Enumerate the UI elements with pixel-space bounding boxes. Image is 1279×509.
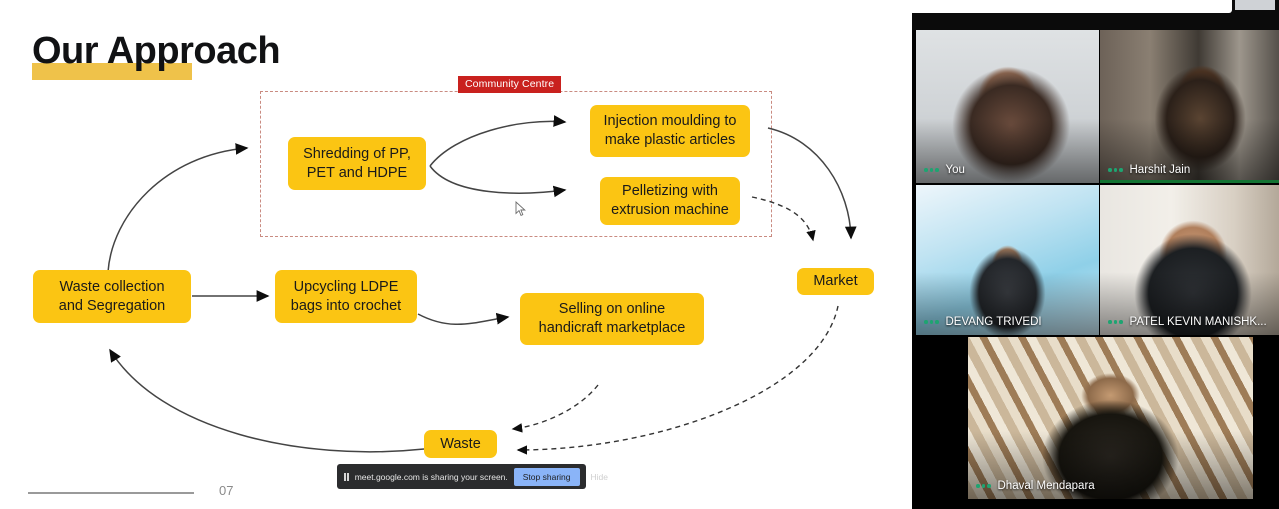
mic-activity-icon [924, 320, 939, 324]
node-pelletizing-text: Pelletizing with extrusion machine [611, 182, 729, 219]
participant-name-row: Dhaval Mendapara [968, 478, 1103, 494]
meet-participants-panel: You Harshit Jain DEVANG TRIVEDI [912, 0, 1279, 509]
mouse-cursor-icon [515, 201, 527, 217]
participant-name: DEVANG TRIVEDI [946, 316, 1042, 328]
tile-gradient [916, 30, 1099, 183]
node-injection-moulding[interactable]: Injection moulding to make plastic artic… [590, 105, 750, 157]
node-upcycling-text: Upcycling LDPE bags into crochet [291, 278, 401, 315]
node-selling[interactable]: Selling on online handicraft marketplace [520, 293, 704, 345]
participant-name-row: You [916, 162, 973, 178]
window-controls-strip [1235, 0, 1275, 10]
participant-tile-you[interactable]: You [916, 30, 1099, 183]
participant-name-row: PATEL KEVIN MANISHK... [1100, 314, 1275, 330]
line-1: Shredding of PP, [303, 146, 411, 162]
tile-gradient [916, 185, 1099, 335]
node-waste-text: Waste [440, 435, 481, 454]
line-2: make plastic articles [605, 132, 736, 148]
participant-name-row: DEVANG TRIVEDI [916, 314, 1050, 330]
line-2: and Segregation [59, 298, 165, 314]
node-shredding[interactable]: Shredding of PP, PET and HDPE [288, 137, 426, 190]
tile-gradient [968, 337, 1253, 499]
mic-activity-icon [1108, 320, 1123, 324]
participant-name: Harshit Jain [1130, 164, 1191, 176]
screen-share-bar: meet.google.com is sharing your screen. … [337, 464, 586, 489]
line-2: extrusion machine [611, 202, 729, 218]
page-title: Our Approach [32, 30, 280, 73]
line-2: bags into crochet [291, 298, 401, 314]
node-waste-collection[interactable]: Waste collection and Segregation [33, 270, 191, 323]
tile-gradient [1100, 185, 1279, 335]
browser-omnibox-strip [902, 0, 1232, 13]
line-2: PET and HDPE [307, 165, 407, 181]
line-1: Upcycling LDPE [294, 279, 399, 295]
tile-gradient [1100, 30, 1279, 183]
node-market-text: Market [813, 272, 857, 291]
line-2: handicraft marketplace [539, 320, 686, 336]
participant-tile-patel-kevin[interactable]: PATEL KEVIN MANISHK... [1100, 185, 1279, 335]
participant-tile-dhaval-mendapara[interactable]: Dhaval Mendapara [968, 337, 1253, 499]
node-pelletizing[interactable]: Pelletizing with extrusion machine [600, 177, 740, 225]
node-waste-collection-text: Waste collection and Segregation [59, 278, 165, 315]
line-1: Waste collection [59, 279, 164, 295]
screen-root: Our Approach Community Centre [0, 0, 1279, 509]
line-1: Pelletizing with [622, 183, 718, 199]
participant-name: PATEL KEVIN MANISHK... [1130, 316, 1267, 328]
mic-activity-icon [1108, 168, 1123, 172]
node-injection-moulding-text: Injection moulding to make plastic artic… [604, 112, 737, 149]
speaking-indicator [1100, 180, 1279, 183]
mic-activity-icon [976, 484, 991, 488]
node-shredding-text: Shredding of PP, PET and HDPE [303, 145, 411, 182]
node-upcycling[interactable]: Upcycling LDPE bags into crochet [275, 270, 417, 323]
community-centre-label: Community Centre [458, 76, 561, 93]
mic-activity-icon [924, 168, 939, 172]
presentation-slide: Our Approach Community Centre [0, 0, 912, 509]
stop-sharing-button[interactable]: Stop sharing [514, 468, 580, 486]
hide-button[interactable]: Hide [586, 472, 613, 482]
line-1: Selling on online [559, 301, 665, 317]
page-number: 07 [219, 483, 233, 498]
line-1: Injection moulding to [604, 113, 737, 129]
participant-tile-harshit-jain[interactable]: Harshit Jain [1100, 30, 1279, 183]
pause-icon [344, 473, 349, 481]
node-selling-text: Selling on online handicraft marketplace [539, 300, 686, 337]
participant-name-row: Harshit Jain [1100, 162, 1198, 178]
node-market[interactable]: Market [797, 268, 874, 295]
share-status-text: meet.google.com is sharing your screen. [355, 472, 508, 482]
footer-divider [28, 492, 194, 494]
participant-name: Dhaval Mendapara [998, 480, 1095, 492]
participant-name: You [946, 164, 965, 176]
panel-top-bar [912, 0, 1279, 30]
node-waste[interactable]: Waste [424, 430, 497, 458]
participant-tile-devang-trivedi[interactable]: DEVANG TRIVEDI [916, 185, 1099, 335]
